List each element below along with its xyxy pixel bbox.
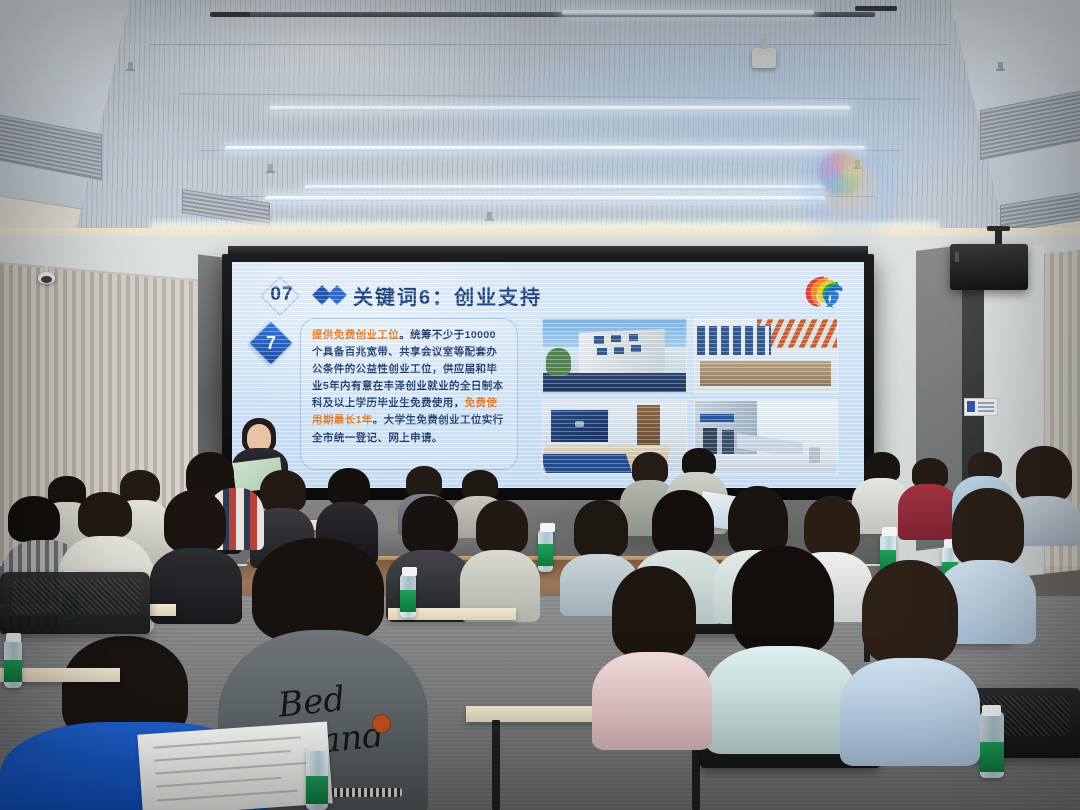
highlighted-text-run: 提供免费创业工位 — [312, 329, 399, 341]
strip-light — [270, 106, 850, 111]
bottle-cap — [882, 527, 897, 536]
bottle-label — [980, 742, 1004, 772]
colorful-swirl-logo-icon — [802, 274, 846, 314]
ceiling-projector — [752, 48, 776, 68]
torso — [840, 658, 980, 766]
light-end-cap — [855, 6, 897, 11]
water-bottle — [980, 712, 1004, 778]
light-end-cap — [210, 12, 250, 17]
text-line — [156, 777, 281, 788]
hair — [652, 490, 714, 556]
text-line — [157, 789, 297, 801]
bottle-label — [306, 776, 328, 804]
attendee — [840, 560, 980, 760]
desk-row — [700, 361, 831, 386]
hair — [260, 470, 306, 512]
hair — [8, 496, 60, 542]
bottle-cap — [6, 633, 21, 642]
window — [611, 335, 621, 342]
glass-partition — [697, 326, 771, 355]
bottle-cap — [308, 741, 326, 751]
tree — [546, 348, 572, 376]
hair — [78, 492, 132, 538]
sign-icon — [967, 401, 975, 412]
attendee — [460, 500, 540, 618]
window — [631, 345, 641, 352]
slide-section-number: 07 — [270, 284, 293, 306]
sprinkler-head — [128, 62, 133, 71]
shirt-logo-dot — [372, 714, 391, 733]
hair — [612, 566, 696, 658]
strip-light — [265, 196, 825, 201]
torso — [592, 652, 712, 750]
bottle-cap — [982, 705, 1001, 716]
text-line — [154, 750, 291, 762]
coworking-open-office-photo — [694, 318, 839, 393]
hair — [252, 538, 384, 642]
text-line — [155, 762, 307, 775]
window — [594, 336, 604, 343]
slide-header: 07 关键词6：创业支持 — [256, 280, 542, 310]
attendee — [706, 546, 856, 746]
ceiling-seam — [150, 44, 950, 45]
blue-carpet — [542, 454, 632, 473]
hair — [164, 490, 226, 552]
window — [629, 334, 639, 341]
slide-title: 关键词6：创业支持 — [353, 281, 542, 310]
bottle-label — [4, 660, 22, 682]
hair — [732, 546, 834, 654]
text-run: 网上申请。 — [388, 432, 443, 444]
sprinkler-head — [268, 164, 273, 173]
hair — [574, 500, 628, 558]
open-booklet — [137, 721, 332, 810]
presentation-screen: 07 关键词6：创业支持 7 提供免费创业工位。统筹不 — [232, 262, 864, 488]
sprinkler-head — [998, 62, 1003, 71]
text-run: 免费使用， — [410, 397, 465, 409]
chair-mesh — [11, 579, 140, 614]
slide-number-badge: 7 — [250, 322, 292, 364]
water-bottle — [4, 640, 22, 688]
bottle-cap — [540, 523, 555, 532]
strip-light — [225, 146, 865, 151]
sprinkler-head — [487, 212, 492, 221]
slide-body-text: 提供免费创业工位。统筹不少于10000个具备百兆宽带、共享会议室等配套办公条件的… — [312, 327, 506, 447]
bottle-label — [538, 544, 553, 566]
hair — [328, 468, 370, 506]
diamond-icon — [327, 285, 347, 305]
wall-speaker — [950, 244, 1028, 290]
window — [614, 347, 624, 354]
window — [597, 348, 607, 355]
slide-section-badge: 07 — [256, 280, 308, 310]
display-screen — [549, 408, 610, 444]
seminar-room-photo: 07 关键词6：创业支持 7 提供免费创业工位。统筹不 — [0, 0, 1080, 810]
text-line — [153, 736, 301, 748]
hair — [476, 500, 528, 554]
strip-light — [305, 185, 825, 190]
hair — [862, 560, 958, 664]
slide-body-card: 提供免费创业工位。统筹不少于10000个具备百兆宽带、共享会议室等配套办公条件的… — [300, 318, 518, 470]
attendee — [592, 566, 712, 746]
text-run: 。统筹不少于 — [399, 329, 464, 341]
hair — [952, 488, 1024, 566]
counter-sign — [700, 414, 734, 423]
sprinkler-head — [855, 160, 860, 169]
water-bottle — [538, 530, 553, 572]
slide-number-badge-label: 7 — [256, 328, 286, 358]
text-run: 。大 — [373, 414, 395, 426]
diamond-bullet-icon — [315, 288, 344, 302]
building-exterior-photo — [542, 318, 687, 393]
water-bottle — [306, 748, 328, 810]
chair — [0, 572, 150, 634]
sign-lines — [978, 402, 994, 404]
stool — [809, 447, 820, 463]
desk-leg — [492, 720, 500, 810]
dome-camera-icon — [38, 272, 55, 284]
strip-light — [562, 10, 814, 15]
wall-sign — [964, 398, 998, 416]
torso — [706, 646, 856, 754]
